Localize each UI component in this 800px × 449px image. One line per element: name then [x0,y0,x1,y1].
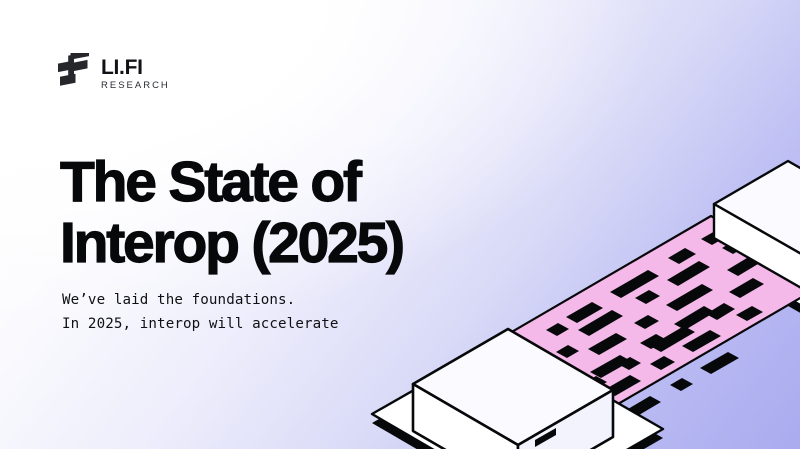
page-subtitle: We’ve laid the foundations. In 2025, int… [62,288,339,336]
report-cover: LI.FI RESEARCH The State of Interop (202… [0,0,800,449]
lifi-research-logo[interactable]: LI.FI RESEARCH [56,53,170,93]
logo-wordmark: LI.FI [101,57,170,78]
logo-text-block: LI.FI RESEARCH [101,55,170,91]
lifi-logo-icon [56,53,90,93]
page-title: The State of Interop (2025) [60,152,403,274]
logo-sub-wordmark: RESEARCH [101,81,170,91]
